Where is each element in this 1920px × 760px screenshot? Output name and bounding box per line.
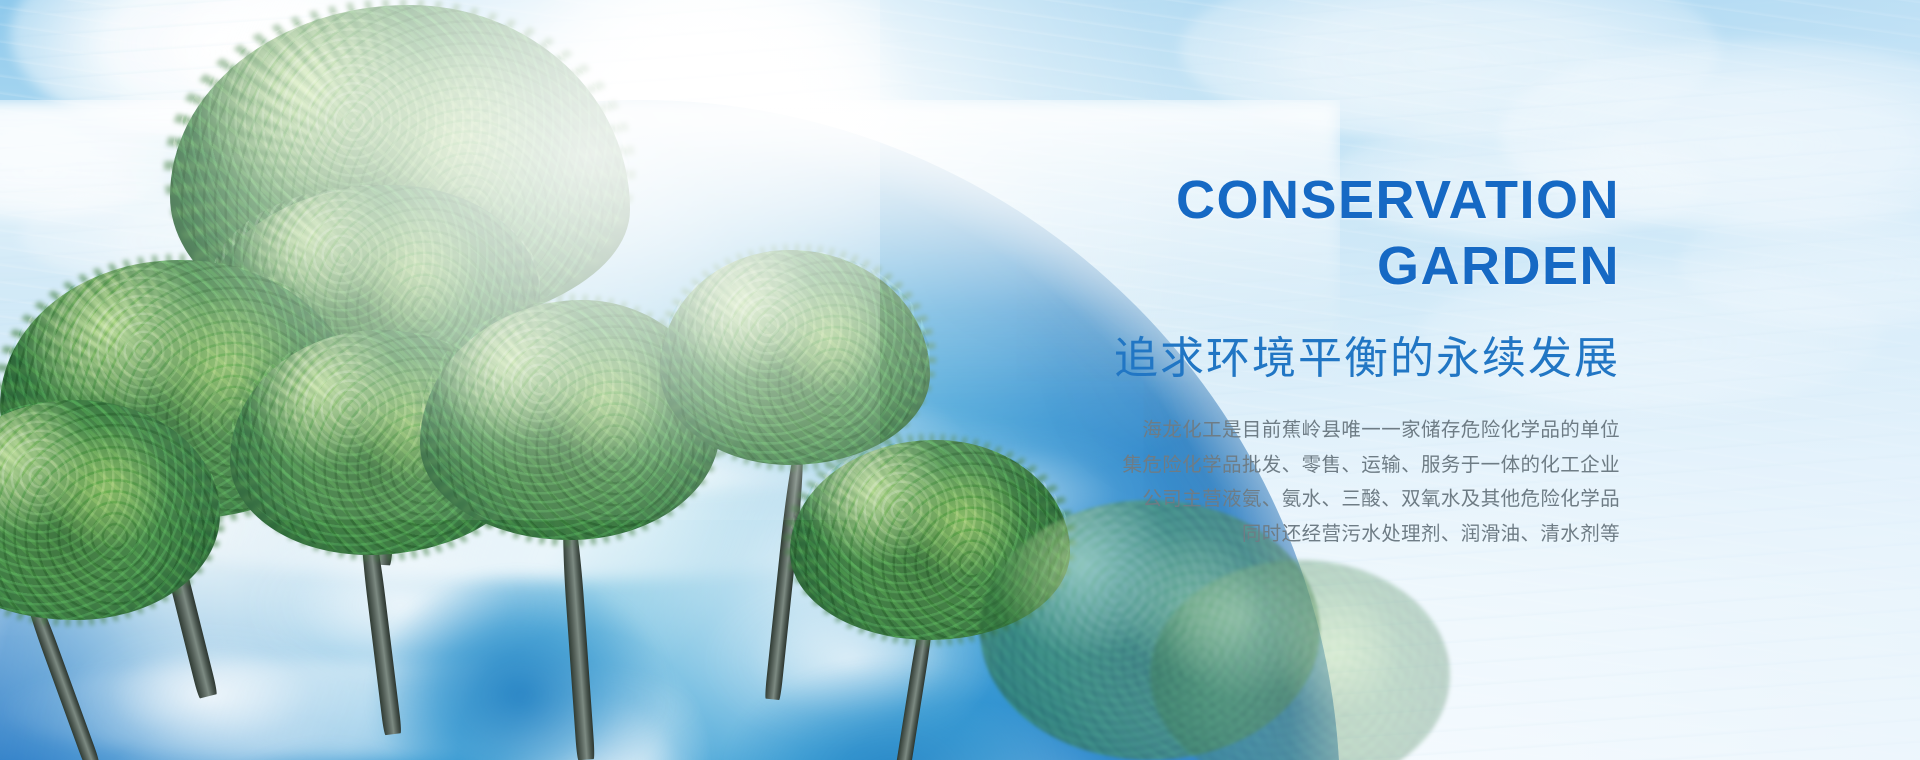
canopy-leaf-texture bbox=[1150, 560, 1450, 760]
hero-banner: CONSERVATION GARDEN 追求环境平衡的永续发展 海龙化工是目前蕉… bbox=[0, 0, 1920, 760]
tree-canopy bbox=[0, 400, 220, 620]
description-line: 公司主营液氨、氨水、三酸、双氧水及其他危险化学品 bbox=[900, 482, 1620, 517]
headline-line-2: GARDEN bbox=[900, 234, 1620, 300]
tree-background-right-2 bbox=[1150, 560, 1450, 760]
page-title: CONSERVATION GARDEN bbox=[900, 168, 1620, 300]
canopy-leaf-texture bbox=[660, 250, 930, 465]
tree-canopy bbox=[1150, 560, 1450, 760]
description-line: 海龙化工是目前蕉岭县唯一一家储存危险化学品的单位 bbox=[900, 413, 1620, 448]
tree-canopy bbox=[660, 250, 930, 465]
description-line: 同时还经营污水处理剂、润滑油、清水剂等 bbox=[900, 517, 1620, 552]
headline-line-1: CONSERVATION bbox=[1176, 170, 1620, 230]
description-block: 海龙化工是目前蕉岭县唯一一家储存危险化学品的单位 集危险化学品批发、零售、运输、… bbox=[900, 413, 1620, 552]
tree-far-left bbox=[0, 400, 220, 760]
banner-copy: CONSERVATION GARDEN 追求环境平衡的永续发展 海龙化工是目前蕉… bbox=[900, 168, 1620, 552]
description-line: 集危险化学品批发、零售、运输、服务于一体的化工企业 bbox=[900, 448, 1620, 483]
subheadline: 追求环境平衡的永续发展 bbox=[900, 330, 1620, 387]
